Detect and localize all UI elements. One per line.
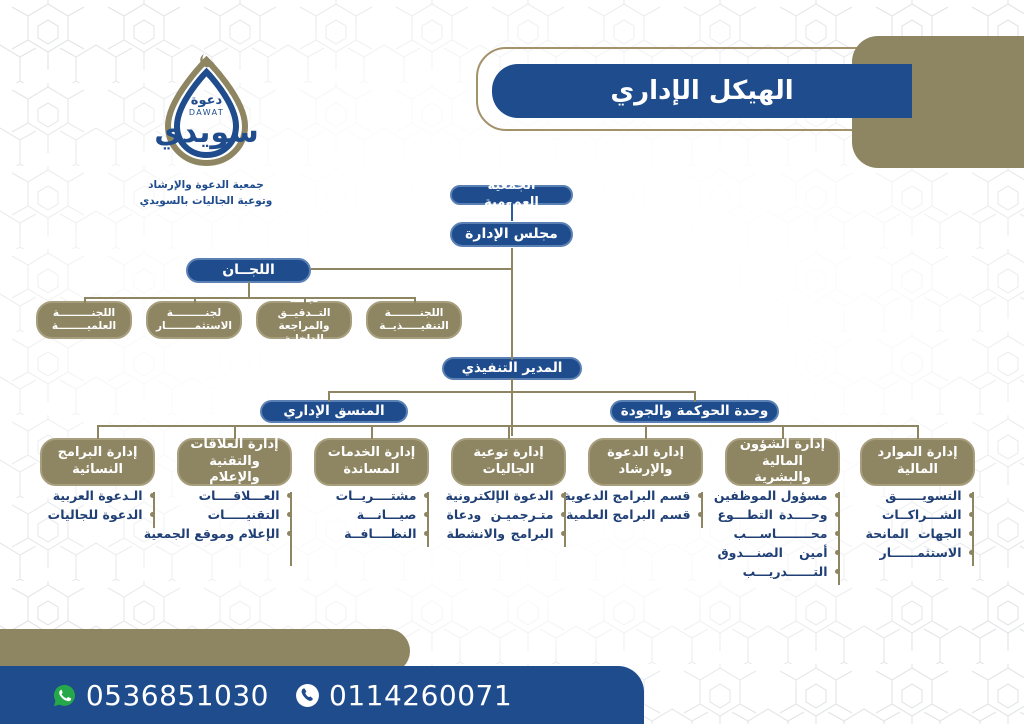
node-board-label: مجلس الإدارة (465, 226, 558, 244)
node-governance-unit-label: وحدة الحوكمة والجودة (621, 403, 768, 420)
svg-text:دعوة: دعوة (190, 93, 222, 108)
whatsapp-icon (52, 683, 77, 708)
node-department-women-programs[interactable]: إدارة البرامج النسائية (40, 438, 155, 486)
connector-dept-4 (508, 425, 510, 439)
list-item[interactable]: الدعوة للجاليات (30, 505, 155, 524)
node-department-finance-hr-label: إدارة الشؤون المالية والبشرية (733, 437, 832, 487)
sublist-finance-hr: مسؤول الموظفين وحــــدة التطـــوع محــــ… (714, 486, 840, 581)
list-item[interactable]: الإعلام وموقع الجمعية (165, 524, 292, 543)
sublist-relations-tech-media: العـــلاقــــات التقنيـــــات الإعلام وم… (165, 486, 292, 543)
node-ceo-label: المدير التنفيذي (462, 360, 563, 377)
sublist-women-programs: الـدعوة العربية الدعوة للجاليات (30, 486, 155, 524)
bullet-dot (698, 512, 704, 518)
connector-dept-7 (97, 425, 99, 439)
list-item[interactable]: متـرجميـن ودعاة (443, 505, 566, 524)
list-item[interactable]: قسم البرامج العلمية (578, 505, 703, 524)
node-department-support-services-label: إدارة الخدمات المساندة (322, 445, 421, 478)
connector-dept-2 (782, 425, 784, 439)
contact-phone[interactable]: 0114260071 (295, 679, 512, 712)
list-item[interactable]: وحــــدة التطـــوع (714, 505, 840, 524)
bullet-dot (424, 531, 430, 537)
connector-committee-3 (194, 297, 196, 310)
contact-whatsapp[interactable]: 0536851030 (52, 679, 269, 712)
list-item[interactable]: التــــــدريـــب (714, 562, 840, 581)
node-department-support-services[interactable]: إدارة الخدمات المساندة (314, 438, 429, 486)
bullet-dot (835, 531, 841, 537)
node-admin-coordinator[interactable]: المنسق الإداري (260, 400, 408, 423)
bullet-dot (835, 569, 841, 575)
list-item[interactable]: العـــلاقــــات (165, 486, 292, 505)
node-department-dawah-guidance[interactable]: إدارة الدعوة والإرشاد (588, 438, 703, 486)
list-item[interactable]: صيـــانـــة (326, 505, 429, 524)
node-general-assembly[interactable]: الجمعية العمومية (450, 185, 573, 205)
list-item[interactable]: مسؤول الموظفين (714, 486, 840, 505)
connector-dept-3 (645, 425, 647, 439)
bullet-dot (969, 493, 975, 499)
connector-committee-2 (304, 297, 306, 310)
bullet-dot (969, 531, 975, 537)
logo-mark: دعوة DAWAT سويدي (144, 52, 269, 174)
bullet-dot (561, 531, 567, 537)
connector-assembly-board (511, 203, 513, 221)
node-department-community-awareness-label: إدارة توعية الجاليات (459, 445, 558, 478)
phone-icon (295, 683, 320, 708)
connector-ceo-coordinator (328, 391, 330, 402)
node-committee-scientific-label: اللجنـــــــــة العلميــــــــة (44, 307, 124, 334)
node-ceo[interactable]: المدير التنفيذي (442, 357, 582, 380)
connector-committees-bus (84, 297, 414, 299)
bullet-dot (835, 493, 841, 499)
node-governance-unit[interactable]: وحدة الحوكمة والجودة (610, 400, 779, 423)
connector-departments-bus (97, 425, 917, 427)
list-item[interactable]: الـدعوة العربية (30, 486, 155, 505)
page-title: الهيكل الإداري (492, 64, 912, 118)
bullet-dot (835, 550, 841, 556)
connector-ceo-sides (328, 391, 694, 393)
bullet-dot (561, 493, 567, 499)
list-item[interactable]: أمين الصنـــدوق (714, 543, 840, 562)
node-department-women-programs-label: إدارة البرامج النسائية (48, 445, 147, 478)
bullet-dot (835, 512, 841, 518)
node-board[interactable]: مجلس الإدارة (450, 222, 573, 247)
list-item[interactable]: الجهات المانحة (862, 524, 974, 543)
connector-committees-bus-stem (248, 282, 250, 298)
logo: دعوة DAWAT سويدي جمعية الدعوة والإرشاد و… (116, 52, 296, 222)
bullet-dot (424, 512, 430, 518)
list-item[interactable]: التسويــــــق (862, 486, 974, 505)
node-department-finance-hr[interactable]: إدارة الشؤون المالية والبشرية (725, 438, 840, 486)
list-item[interactable]: قسم البرامج الدعوية (578, 486, 703, 505)
connector-ceo-down (511, 378, 513, 436)
svg-text:سويدي: سويدي (154, 115, 258, 150)
node-department-financial-resources-label: إدارة الموارد المالية (868, 445, 967, 478)
bullet-dot (287, 493, 293, 499)
bullet-dot (287, 512, 293, 518)
bullet-dot (561, 512, 567, 518)
phone-number: 0114260071 (329, 679, 512, 712)
logo-caption: جمعية الدعوة والإرشاد وتوعية الجاليات با… (116, 178, 296, 210)
sublist-financial-resources: التسويــــــق الشـــراكــات الجهات المان… (862, 486, 974, 562)
node-committee-executive-label: اللجنــــــــة التنفيـــــذيــة (374, 307, 454, 334)
list-item[interactable]: مشتــــريــات (326, 486, 429, 505)
node-committees-title[interactable]: اللجــان (186, 258, 311, 283)
list-item[interactable]: محــــــــاســـب (714, 524, 840, 543)
bullet-dot (287, 531, 293, 537)
sublist-support-services: مشتــــريــات صيـــانـــة النظــــافــة (326, 486, 429, 543)
node-department-relations-tech-media[interactable]: إدارة العلاقات والتقنية والإعلام (177, 438, 292, 486)
node-department-financial-resources[interactable]: إدارة الموارد المالية (860, 438, 975, 486)
list-item[interactable]: الشـــراكــات (862, 505, 974, 524)
connector-ceo-governance (694, 391, 696, 402)
connector-trunk-committees (311, 268, 511, 270)
node-department-relations-tech-media-label: إدارة العلاقات والتقنية والإعلام (185, 437, 284, 487)
sublist-community-awareness: الدعوة الإلكترونية متـرجميـن ودعاة البرا… (443, 486, 566, 543)
bullet-dot (150, 512, 156, 518)
bullet-dot (150, 493, 156, 499)
logo-caption-line1: جمعية الدعوة والإرشاد (116, 178, 296, 194)
node-admin-coordinator-label: المنسق الإداري (283, 403, 384, 420)
logo-caption-line2: وتوعية الجاليات بالسويدي (116, 194, 296, 210)
list-item[interactable]: النظــــافــة (326, 524, 429, 543)
node-committee-investment-label: لجنـــــــــة الاستثمــــــــار (154, 307, 234, 334)
list-item[interactable]: البرامج والانشطة (443, 524, 566, 543)
connector-dept-5 (371, 425, 373, 439)
bullet-dot (698, 493, 704, 499)
connector-dept-1 (917, 425, 919, 439)
list-item[interactable]: التقنيـــــات (165, 505, 292, 524)
whatsapp-number: 0536851030 (86, 679, 269, 712)
bullet-dot (969, 550, 975, 556)
bullet-dot (424, 493, 430, 499)
list-item[interactable]: الاستثمــــــار (862, 543, 974, 562)
footer-contact-bar: 0114260071 0536851030 (0, 666, 644, 724)
list-item[interactable]: الدعوة الإلكترونية (443, 486, 566, 505)
node-department-community-awareness[interactable]: إدارة توعية الجاليات (451, 438, 566, 486)
connector-board-ceo (511, 248, 513, 360)
sublist-dawah-guidance: قسم البرامج الدعوية قسم البرامج العلمية (578, 486, 703, 524)
node-committees-title-label: اللجــان (222, 262, 275, 280)
connector-committee-1 (414, 297, 416, 310)
node-department-dawah-guidance-label: إدارة الدعوة والإرشاد (596, 445, 695, 478)
connector-committee-4 (84, 297, 86, 310)
connector-dept-6 (234, 425, 236, 439)
bullet-dot (969, 512, 975, 518)
